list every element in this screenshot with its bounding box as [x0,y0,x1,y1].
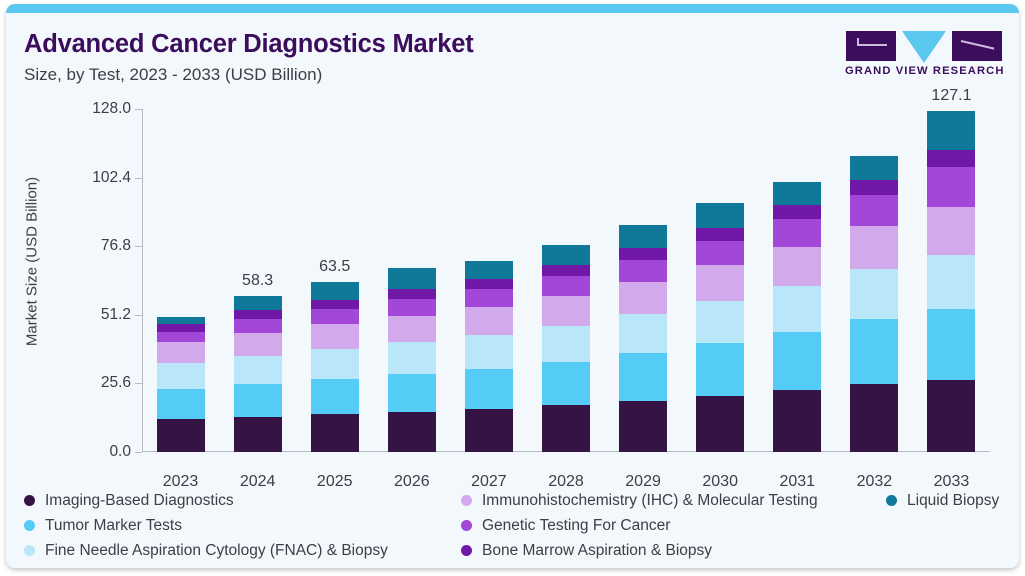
bar-segment[interactable] [619,225,667,248]
bar-segment[interactable] [542,276,590,296]
bar-segment[interactable] [927,111,975,150]
y-axis-tick-mark [135,109,142,110]
bar-segment[interactable] [927,380,975,452]
bar-segment[interactable] [850,384,898,452]
bar-segment[interactable] [465,289,513,307]
stacked-bar[interactable] [465,261,513,452]
bar-segment[interactable] [850,269,898,319]
bar-segment[interactable] [773,286,821,332]
bar-segment[interactable] [157,317,205,324]
bar-group[interactable]: 2031 [773,109,821,452]
stacked-bar[interactable] [850,156,898,452]
legend-color-dot-icon [24,520,35,531]
bar-value-label: 63.5 [319,258,350,276]
logo-rect-left-tick-icon [857,38,859,46]
bar-segment[interactable] [311,349,359,379]
stacked-bar[interactable] [234,296,282,452]
stacked-bar[interactable] [927,111,975,452]
chart-header: Advanced Cancer Diagnostics Market Size,… [6,13,1019,93]
bar-segment[interactable] [311,309,359,324]
stacked-bar[interactable] [388,268,436,452]
y-axis-tick-label: 128.0 [61,100,142,118]
y-axis-tick-mark [135,452,142,453]
legend-color-dot-icon [461,520,472,531]
bar-segment[interactable] [619,314,667,353]
bar-group[interactable]: 2032 [850,109,898,452]
bar-segment[interactable] [157,389,205,419]
bar-segment[interactable] [465,307,513,335]
bar-segment[interactable] [773,247,821,286]
bar-segment[interactable] [157,363,205,389]
bar-segment[interactable] [696,396,744,452]
bar-group[interactable]: 63.52025 [311,109,359,452]
legend-item[interactable]: Genetic Testing For Cancer [461,513,818,538]
bar-segment[interactable] [157,324,205,332]
bar-segment[interactable] [927,309,975,380]
stacked-bar[interactable] [157,317,205,452]
top-accent-bar [6,4,1019,13]
y-axis-title: Market Size (USD Billion) [24,152,41,372]
y-axis-tick-label: 51.2 [61,306,142,324]
legend-column-1: Imaging-Based DiagnosticsTumor Marker Te… [24,488,388,563]
y-axis-tick-mark [135,246,142,247]
bar-segment[interactable] [388,316,436,343]
bar-segment[interactable] [388,289,436,299]
chart-legend: Imaging-Based DiagnosticsTumor Marker Te… [24,488,1009,562]
bar-segment[interactable] [773,182,821,206]
bar-segment[interactable] [465,369,513,409]
bar-segment[interactable] [311,324,359,349]
logo-text: GRAND VIEW RESEARCH [845,65,1003,77]
bar-segment[interactable] [850,195,898,226]
page-title: Advanced Cancer Diagnostics Market [24,30,474,59]
legend-item-label: Fine Needle Aspiration Cytology (FNAC) &… [45,542,388,560]
bar-segment[interactable] [388,412,436,452]
bar-segment[interactable] [388,374,436,412]
chart-card: Advanced Cancer Diagnostics Market Size,… [6,4,1019,568]
legend-item[interactable]: Liquid Biopsy [886,488,999,513]
legend-item[interactable]: Immunohistochemistry (IHC) & Molecular T… [461,488,818,513]
bar-segment[interactable] [542,362,590,405]
logo-rect-left-line-icon [857,44,887,46]
bar-segment[interactable] [696,343,744,396]
bar-segment[interactable] [465,335,513,369]
bar-segment[interactable] [542,405,590,452]
bar-segment[interactable] [773,205,821,219]
bar-segment[interactable] [234,319,282,332]
bar-segment[interactable] [234,384,282,416]
bar-segment[interactable] [619,260,667,282]
bar-segment[interactable] [696,203,744,227]
bar-segment[interactable] [234,356,282,384]
legend-item[interactable]: Imaging-Based Diagnostics [24,488,388,513]
bar-segment[interactable] [234,417,282,452]
plot-area: 0.025.651.276.8102.4128.0202358.3202463.… [142,109,990,452]
bar-group[interactable]: 2030 [696,109,744,452]
bar-segment[interactable] [773,390,821,452]
bar-segment[interactable] [311,282,359,300]
y-axis-tick-mark [135,383,142,384]
bar-segment[interactable] [542,326,590,362]
stacked-bar[interactable] [542,245,590,452]
legend-column-2: Immunohistochemistry (IHC) & Molecular T… [461,488,818,563]
bar-group[interactable]: 2027 [465,109,513,452]
bar-segment[interactable] [619,353,667,401]
stacked-bar[interactable] [311,282,359,452]
bar-segment[interactable] [234,310,282,319]
bar-segment[interactable] [542,245,590,265]
bar-segment[interactable] [619,282,667,314]
bar-segment[interactable] [388,268,436,289]
bar-segment[interactable] [619,248,667,260]
bar-segment[interactable] [696,265,744,300]
y-axis-tick-mark [135,315,142,316]
legend-item-label: Genetic Testing For Cancer [482,517,670,535]
stacked-bar[interactable] [619,225,667,452]
logo-rect-left-icon [846,31,896,61]
bar-value-label: 127.1 [931,87,971,105]
logo-triangle-icon [902,31,946,63]
legend-color-dot-icon [886,495,897,506]
bar-segment[interactable] [388,299,436,316]
bar-segment[interactable] [850,180,898,195]
legend-item-label: Liquid Biopsy [907,492,999,510]
y-axis-tick-label: 102.4 [61,169,142,187]
bar-segment[interactable] [388,342,436,374]
logo-mark [845,29,1003,63]
bar-segment[interactable] [850,226,898,268]
legend-item-label: Immunohistochemistry (IHC) & Molecular T… [482,492,818,510]
bar-segment[interactable] [696,228,744,241]
legend-item-label: Tumor Marker Tests [45,517,182,535]
bar-segment[interactable] [927,167,975,207]
bar-segment[interactable] [157,342,205,363]
legend-item-label: Imaging-Based Diagnostics [45,492,234,510]
bar-group[interactable]: 127.12033 [927,109,975,452]
legend-color-dot-icon [461,495,472,506]
bar-segment[interactable] [850,319,898,384]
bar-segment[interactable] [311,414,359,452]
bar-segment[interactable] [927,150,975,166]
page-subtitle: Size, by Test, 2023 - 2033 (USD Billion) [24,65,322,85]
bar-segment[interactable] [773,219,821,247]
y-axis-tick-label: 0.0 [61,443,142,461]
bar-segment[interactable] [465,279,513,289]
bar-group[interactable]: 2029 [619,109,667,452]
bar-segment[interactable] [234,333,282,357]
legend-column-3: Liquid Biopsy [886,488,999,513]
bar-segment[interactable] [542,296,590,326]
bar-segment[interactable] [157,419,205,452]
bar-value-label: 58.3 [242,272,273,290]
stacked-bar-chart: Market Size (USD Billion) 0.025.651.276.… [6,93,1019,478]
stacked-bar[interactable] [696,203,744,452]
bar-segment[interactable] [696,241,744,266]
bar-segment[interactable] [619,401,667,452]
grand-view-research-logo: GRAND VIEW RESEARCH [845,29,1003,85]
legend-item[interactable]: Tumor Marker Tests [24,513,388,538]
bar-segment[interactable] [850,156,898,180]
bar-group[interactable]: 2026 [388,109,436,452]
legend-color-dot-icon [24,545,35,556]
bar-segment[interactable] [465,409,513,452]
stacked-bar[interactable] [773,182,821,452]
y-axis-tick-mark [135,178,142,179]
bar-segment[interactable] [773,332,821,390]
bar-segment[interactable] [311,379,359,414]
bar-segment[interactable] [311,300,359,310]
legend-color-dot-icon [24,495,35,506]
y-axis-tick-label: 25.6 [61,374,142,392]
bar-segment[interactable] [234,296,282,310]
bar-group[interactable]: 58.32024 [234,109,282,452]
logo-rect-right-icon [952,31,1002,61]
legend-item[interactable]: Fine Needle Aspiration Cytology (FNAC) &… [24,538,388,563]
bar-group[interactable]: 2028 [542,109,590,452]
bar-segment[interactable] [927,207,975,255]
legend-color-dot-icon [461,545,472,556]
legend-item-label: Bone Marrow Aspiration & Biopsy [482,542,712,560]
bar-segment[interactable] [927,255,975,309]
bar-segment[interactable] [465,261,513,279]
bar-segment[interactable] [542,265,590,276]
bar-group[interactable]: 2023 [157,109,205,452]
bar-segment[interactable] [157,332,205,342]
legend-item[interactable]: Bone Marrow Aspiration & Biopsy [461,538,818,563]
bar-segment[interactable] [696,301,744,344]
y-axis-tick-label: 76.8 [61,237,142,255]
